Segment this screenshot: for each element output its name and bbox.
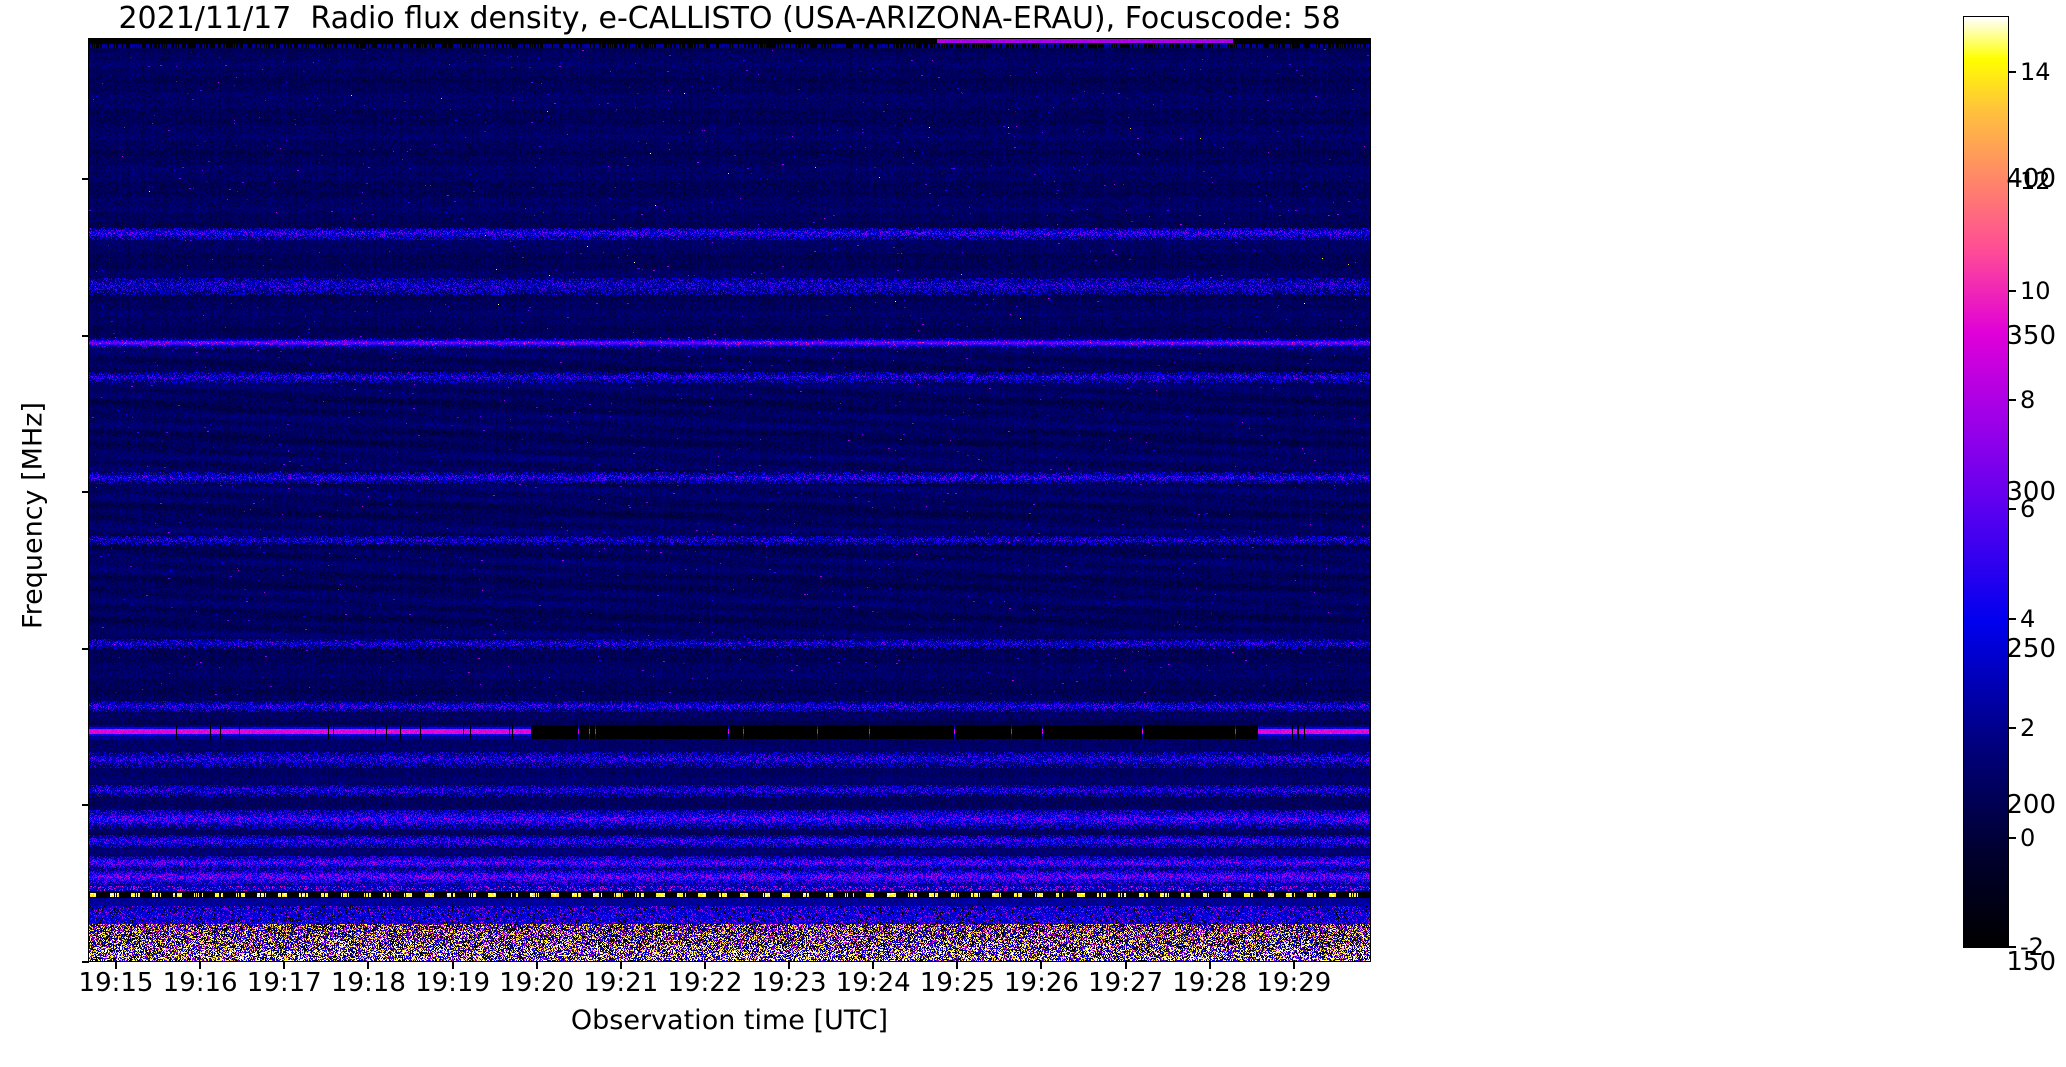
colorbar-tick-label: 10 [2020,277,2051,305]
colorbar-tick-label: 0 [2020,824,2035,852]
y-tick-label: 250 [2006,634,2056,664]
x-tick-mark [704,962,706,969]
x-tick-mark [283,962,285,969]
y-tick-mark [82,961,89,963]
y-tick-mark [82,648,89,650]
colorbar-tick-mark [2009,837,2016,839]
colorbar-gradient [1964,17,2008,947]
y-tick-mark [82,804,89,806]
figure-canvas: 2021/11/17 Radio flux density, e-CALLIST… [0,0,2066,1067]
x-tick-label: 19:28 [1172,968,1247,998]
colorbar-tick-mark [2009,508,2016,510]
x-tick-mark [1293,962,1295,969]
x-tick-label: 19:25 [920,968,995,998]
colorbar-tick-mark [2009,290,2016,292]
y-tick-label: 350 [2006,321,2056,351]
y-axis-label: Frequency [MHz] [18,236,49,796]
colorbar-tick-mark [2009,180,2016,182]
colorbar-axes[interactable] [1963,16,2009,948]
colorbar-tick-label: 6 [2020,495,2035,523]
x-tick-mark [956,962,958,969]
y-tick-mark [82,335,89,337]
colorbar-tick-mark [2009,618,2016,620]
x-tick-mark [452,962,454,969]
x-tick-mark [367,962,369,969]
colorbar-tick-label: 4 [2020,605,2035,633]
y-tick-label: 200 [2006,790,2056,820]
spectrogram-image[interactable] [89,39,1371,962]
y-axis: Frequency [MHz] [0,0,88,1067]
x-tick-mark [620,962,622,969]
x-tick-mark [115,962,117,969]
y-tick-mark [82,178,89,180]
x-tick-label: 19:20 [499,968,574,998]
x-tick-label: 19:27 [1088,968,1163,998]
x-tick-label: 19:26 [1004,968,1079,998]
colorbar-tick-mark [2009,946,2016,948]
x-tick-label: 19:19 [415,968,490,998]
x-tick-label: 19:16 [163,968,238,998]
page-title: 2021/11/17 Radio flux density, e-CALLIST… [88,2,1371,36]
x-tick-label: 19:21 [583,968,658,998]
colorbar-tick-label: 14 [2020,58,2051,86]
colorbar-tick-mark [2009,727,2016,729]
x-tick-label: 19:22 [667,968,742,998]
colorbar-tick-label: 2 [2020,714,2035,742]
x-tick-label: 19:17 [247,968,322,998]
colorbar-tick-label: 12 [2020,167,2051,195]
x-tick-label: 19:15 [79,968,154,998]
x-tick-label: 19:23 [752,968,827,998]
x-tick-mark [788,962,790,969]
x-tick-mark [536,962,538,969]
x-tick-mark [1040,962,1042,969]
x-tick-mark [1125,962,1127,969]
x-tick-mark [1209,962,1211,969]
x-tick-label: 19:18 [331,968,406,998]
y-tick-mark [82,491,89,493]
spectrogram-axes[interactable] [88,38,1371,962]
colorbar-tick-mark [2009,71,2016,73]
x-tick-label: 19:29 [1256,968,1331,998]
x-axis-label: Observation time [UTC] [88,1005,1371,1036]
x-tick-mark [872,962,874,969]
colorbar-tick-mark [2009,399,2016,401]
x-tick-mark [199,962,201,969]
colorbar-tick-label: 8 [2020,386,2035,414]
x-tick-label: 19:24 [836,968,911,998]
colorbar-tick-label: -2 [2020,933,2044,961]
